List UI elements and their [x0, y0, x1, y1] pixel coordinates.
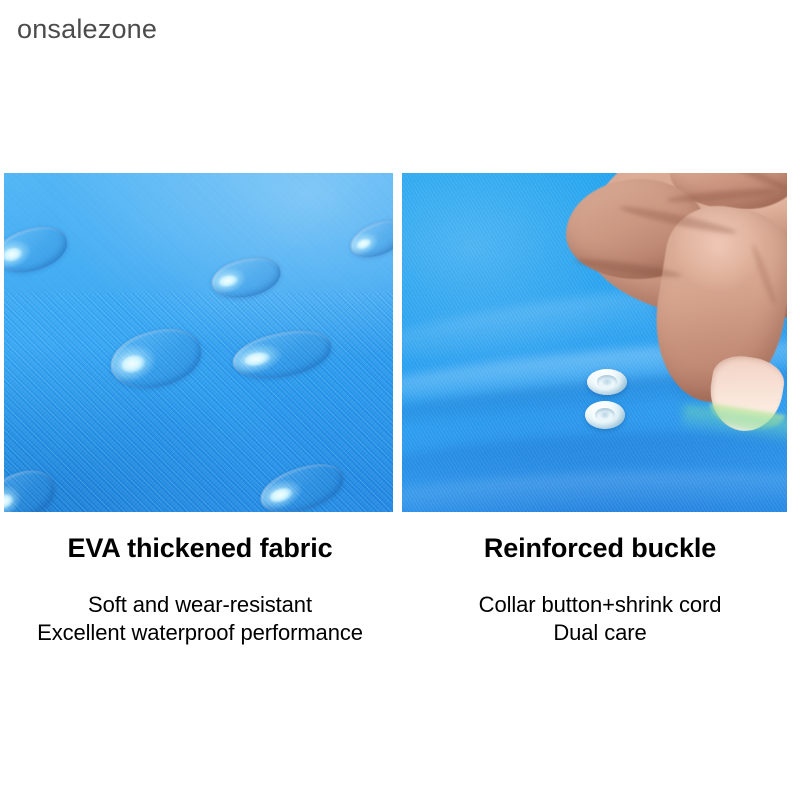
watermark-label: onsalezone — [17, 13, 157, 45]
feature-description-line: Soft and wear-resistant — [0, 591, 400, 619]
droplet-highlight — [219, 274, 239, 289]
feature-caption-row: EVA thickened fabric Soft and wear-resis… — [0, 512, 800, 647]
snap-button-icon — [587, 369, 627, 395]
feature-description: Soft and wear-resistant Excellent waterp… — [0, 591, 400, 647]
droplet-highlight — [243, 350, 271, 368]
droplet-highlight — [356, 237, 374, 252]
snap-button-icon — [585, 401, 625, 429]
caption-reinforced-buckle: Reinforced buckle Collar button+shrink c… — [400, 512, 800, 647]
feature-description: Collar button+shrink cord Dual care — [400, 591, 800, 647]
droplet-highlight — [120, 353, 147, 375]
feature-description-line: Collar button+shrink cord — [400, 591, 800, 619]
feature-description-line: Dual care — [400, 619, 800, 647]
droplet-highlight — [269, 486, 294, 505]
feature-title: EVA thickened fabric — [0, 532, 400, 564]
droplet-highlight — [4, 492, 15, 511]
feature-image-row — [0, 173, 800, 512]
panel-image-eva-fabric — [4, 173, 393, 512]
hand-icon — [562, 173, 787, 375]
caption-eva-fabric: EVA thickened fabric Soft and wear-resis… — [0, 512, 400, 647]
panel-divider — [393, 173, 402, 512]
feature-description-line: Excellent waterproof performance — [0, 619, 400, 647]
panel-image-reinforced-buckle — [402, 173, 787, 512]
droplet-highlight — [4, 246, 24, 263]
feature-title: Reinforced buckle — [400, 532, 800, 564]
